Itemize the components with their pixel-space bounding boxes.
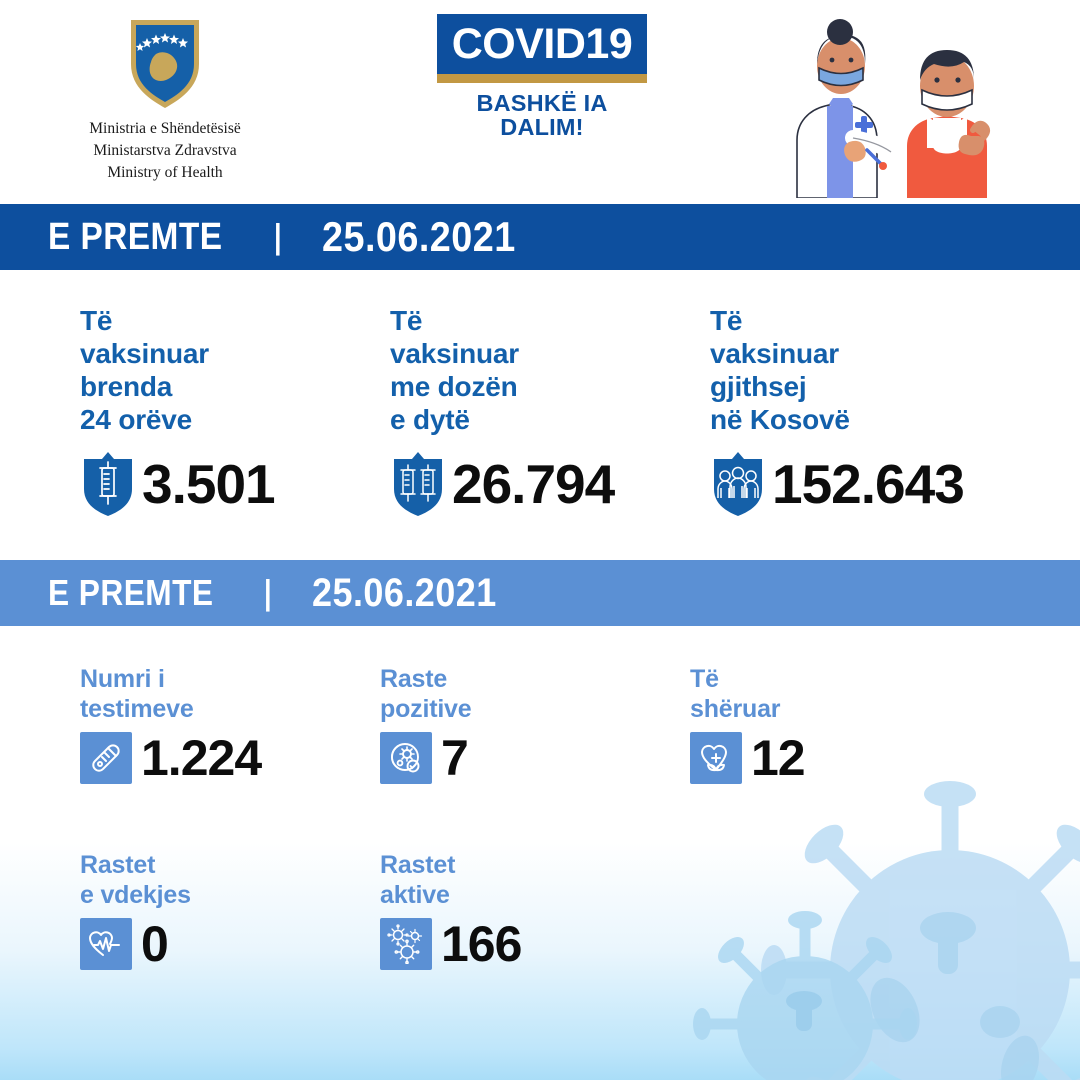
daily-stats-spacer xyxy=(640,850,960,970)
covid19-logo-box: COVID19 xyxy=(437,14,647,74)
label-line: me dozën xyxy=(390,370,660,403)
vaccination-stat-total-value: 152.643 xyxy=(772,457,964,512)
ministry-line-sr: Ministarstva Zdravstva xyxy=(89,140,241,162)
daily-stat-tests: Numri i testimeve xyxy=(0,664,320,784)
vaccination-banner-separator: | xyxy=(274,218,282,257)
label-line: 24 orëve xyxy=(80,403,330,436)
label-line: Të xyxy=(80,304,330,337)
daily-stat-tests-value: 1.224 xyxy=(141,733,261,783)
ministry-name: Ministria e Shëndetësisë Ministarstva Zd… xyxy=(89,118,241,184)
label-line: Të xyxy=(390,304,660,337)
label-line: vaksinuar xyxy=(710,337,1080,370)
vaccination-stat-second-dose-label: Të vaksinuar me dozën e dytë xyxy=(390,304,660,436)
page-header: Ministria e Shëndetësisë Ministarstva Zd… xyxy=(0,0,1080,200)
infographic-page: Ministria e Shëndetësisë Ministarstva Zd… xyxy=(0,0,1080,1080)
daily-date-banner: E PREMTE | 25.06.2021 xyxy=(0,560,1080,626)
vaccination-stat-total: Të vaksinuar gjithsej në Kosovë xyxy=(660,304,1080,518)
label-line: pozitive xyxy=(380,694,640,724)
label-line: Numri i xyxy=(80,664,320,694)
doctor-vaccinating-patient-illustration xyxy=(757,8,1007,198)
daily-stat-deaths: Rastet e vdekjes 0 xyxy=(0,850,320,970)
daily-stats-section: Numri i testimeve xyxy=(0,626,1080,970)
vaccination-date-banner: E PREMTE | 25.06.2021 xyxy=(0,204,1080,270)
vaccination-stat-total-label: Të vaksinuar gjithsej në Kosovë xyxy=(710,304,1080,436)
label-line: Rastet xyxy=(80,850,320,880)
label-line: vaksinuar xyxy=(80,337,330,370)
covid19-wordmark: COVID19 xyxy=(437,23,647,66)
label-line: Rastet xyxy=(380,850,640,880)
label-line: Raste xyxy=(380,664,640,694)
label-line: brenda xyxy=(80,370,330,403)
label-line: Të xyxy=(690,664,960,694)
label-line: aktive xyxy=(380,880,640,910)
virus-cluster-icon xyxy=(380,918,432,970)
daily-stats-row-2: Rastet e vdekjes 0 xyxy=(0,850,1080,970)
daily-stat-active-value: 166 xyxy=(441,919,521,969)
vaccination-banner-day: E PREMTE xyxy=(48,216,222,259)
daily-banner-separator: | xyxy=(264,574,272,613)
daily-stat-positive-value: 7 xyxy=(441,733,468,783)
label-line: në Kosovë xyxy=(710,403,1080,436)
vaccination-stats-row: Të vaksinuar brenda 24 orëve xyxy=(0,270,1080,518)
label-line: shëruar xyxy=(690,694,960,724)
heart-leaf-icon xyxy=(690,732,742,784)
covid19-slogan: BASHKË IA DALIM! xyxy=(437,92,647,139)
daily-stat-recovered-value: 12 xyxy=(751,733,805,783)
daily-banner-date: 25.06.2021 xyxy=(312,571,497,616)
shield-syringe-icon xyxy=(80,450,136,518)
label-line: e dytë xyxy=(390,403,660,436)
daily-stat-tests-label: Numri i testimeve xyxy=(80,664,320,724)
label-line: vaksinuar xyxy=(390,337,660,370)
vaccination-stat-second-dose-value: 26.794 xyxy=(452,457,614,512)
label-line: Të xyxy=(710,304,1080,337)
daily-stat-recovered-label: Të shëruar xyxy=(690,664,960,724)
daily-stat-positive: Raste pozitive xyxy=(320,664,640,784)
kosovo-coat-of-arms-icon xyxy=(126,14,204,110)
vaccination-stat-second-dose: Të vaksinuar me dozën e dytë xyxy=(330,304,660,518)
shield-double-syringe-icon xyxy=(390,450,446,518)
ministry-line-en: Ministry of Health xyxy=(89,162,241,184)
label-line: gjithsej xyxy=(710,370,1080,403)
label-line: testimeve xyxy=(80,694,320,724)
virus-petri-icon xyxy=(380,732,432,784)
vaccination-stat-24h-label: Të vaksinuar brenda 24 orëve xyxy=(80,304,330,436)
daily-stat-deaths-value: 0 xyxy=(141,919,168,969)
covid19-logo: COVID19 BASHKË IA DALIM! xyxy=(437,14,647,139)
test-tube-icon xyxy=(80,732,132,784)
covid19-gold-rule xyxy=(437,74,647,83)
daily-stat-positive-label: Raste pozitive xyxy=(380,664,640,724)
shield-people-icon xyxy=(710,450,766,518)
ministry-branding: Ministria e Shëndetësisë Ministarstva Zd… xyxy=(0,14,330,184)
daily-banner-day: E PREMTE xyxy=(48,572,213,614)
heart-pulse-icon xyxy=(80,918,132,970)
daily-stat-active: Rastet aktive xyxy=(320,850,640,970)
label-line: e vdekjes xyxy=(80,880,320,910)
daily-stat-recovered: Të shëruar xyxy=(640,664,960,784)
vaccination-banner-date: 25.06.2021 xyxy=(322,213,516,261)
daily-stat-active-label: Rastet aktive xyxy=(380,850,640,910)
daily-stat-deaths-label: Rastet e vdekjes xyxy=(80,850,320,910)
daily-stats-row-1: Numri i testimeve xyxy=(0,664,1080,784)
ministry-line-sq: Ministria e Shëndetësisë xyxy=(89,118,241,140)
vaccination-stat-24h-value: 3.501 xyxy=(142,457,275,512)
vaccination-stat-24h: Të vaksinuar brenda 24 orëve xyxy=(0,304,330,518)
